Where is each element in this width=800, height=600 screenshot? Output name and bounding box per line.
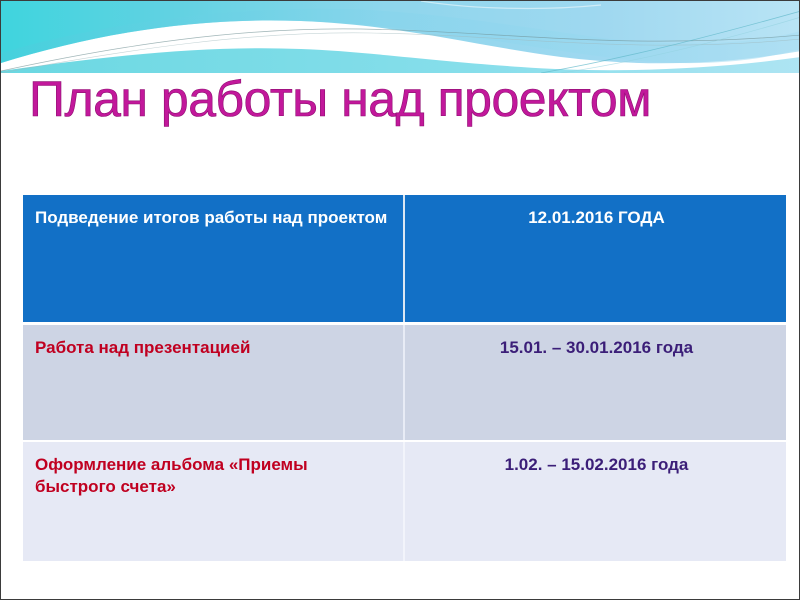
task-cell: Работа над презентацией xyxy=(23,323,404,441)
table-row: Подведение итогов работы над проектом 12… xyxy=(23,195,786,323)
date-cell: 15.01. – 30.01.2016 года xyxy=(404,323,786,441)
page-title: План работы над проектом xyxy=(29,71,789,127)
task-cell: Оформление альбома «Приемы быстрого счет… xyxy=(23,441,404,561)
table-row: Работа над презентацией 15.01. – 30.01.2… xyxy=(23,323,786,441)
project-plan-table: Подведение итогов работы над проектом 12… xyxy=(23,195,786,561)
presentation-slide: План работы над проектом Подведение итог… xyxy=(0,0,800,600)
wave-decoration xyxy=(1,1,800,73)
table-row: Оформление альбома «Приемы быстрого счет… xyxy=(23,441,786,561)
date-cell: 1.02. – 15.02.2016 года xyxy=(404,441,786,561)
task-cell: Подведение итогов работы над проектом xyxy=(23,195,404,323)
date-cell: 12.01.2016 ГОДА xyxy=(404,195,786,323)
